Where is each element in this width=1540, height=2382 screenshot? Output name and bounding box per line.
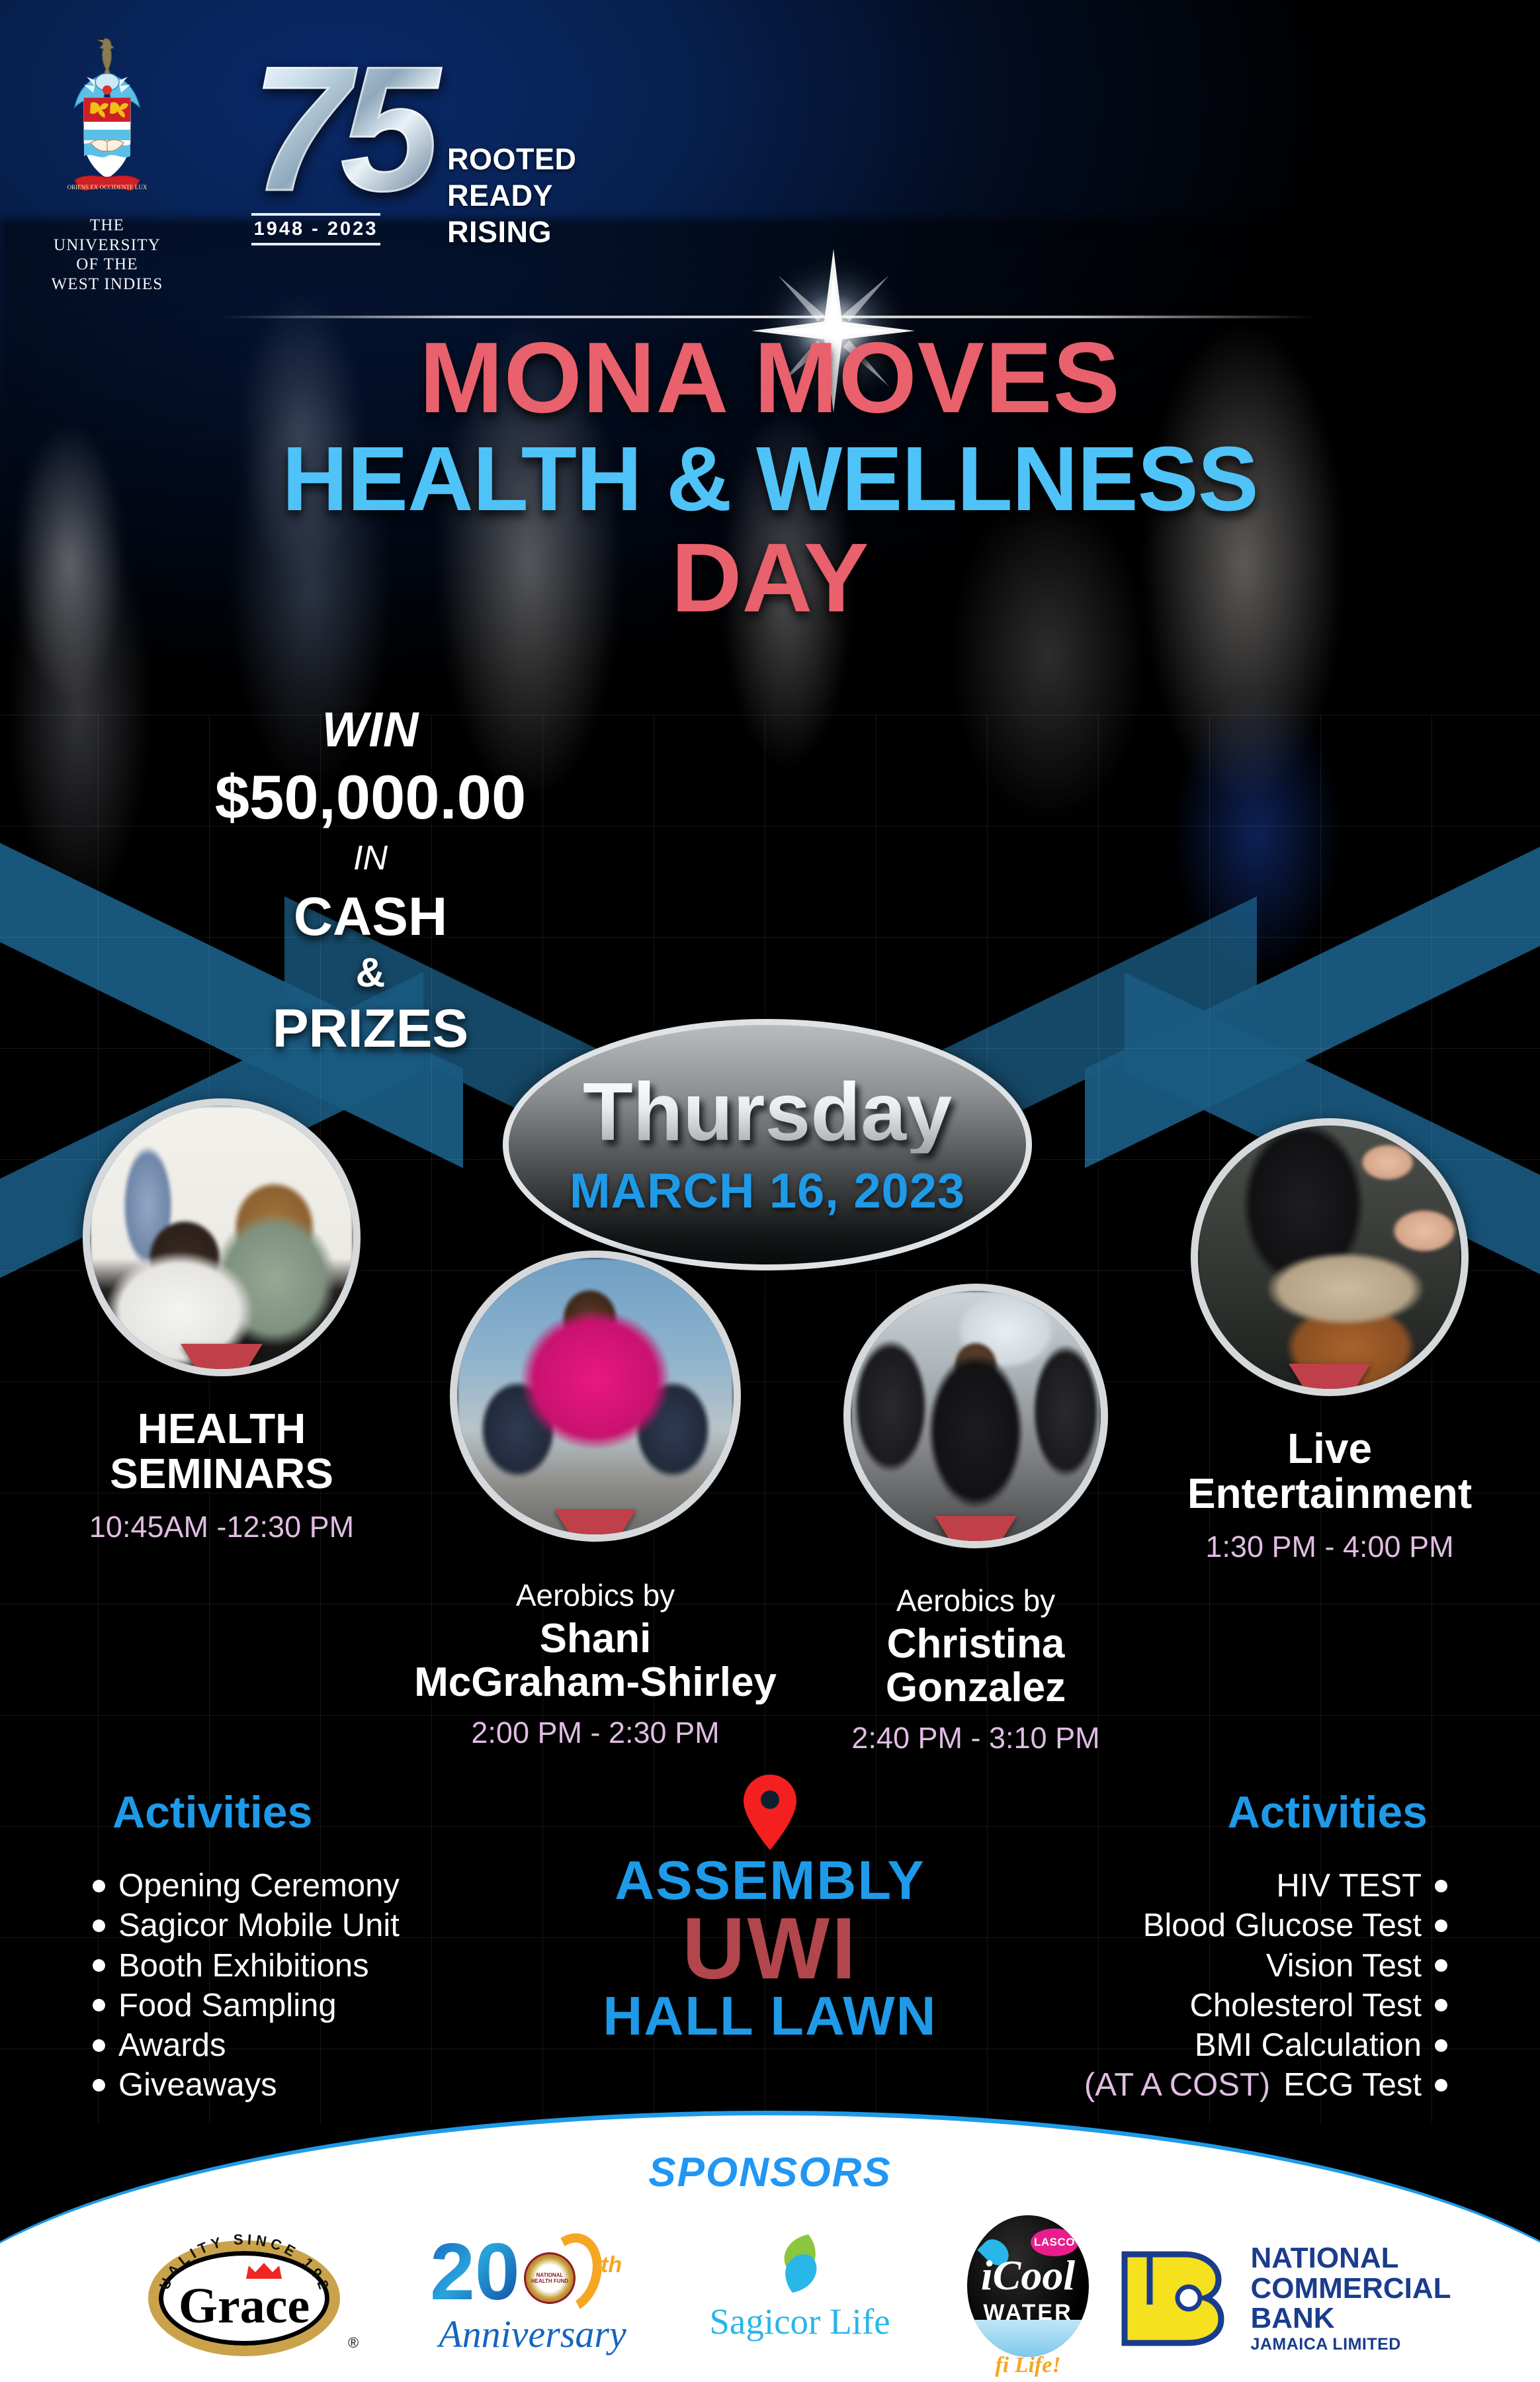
bullet-icon bbox=[93, 1959, 105, 1972]
aerobics-shani-name: Shani McGraham-Shirley bbox=[390, 1617, 800, 1704]
anniversary-wordmark: Anniversary bbox=[423, 2312, 642, 2356]
aerobics-shani-image bbox=[450, 1251, 741, 1542]
list-item: Vision Test bbox=[945, 1946, 1447, 1986]
bullet-icon bbox=[1435, 1880, 1447, 1892]
bullet-icon bbox=[1435, 1999, 1447, 2011]
list-item: (AT A COST) ECG Test bbox=[945, 2065, 1447, 2105]
sponsor-logo-grace: QUALITY SINCE 1922 Grace ® bbox=[115, 2228, 374, 2367]
activities-left-list: Opening Ceremony Sagicor Mobile Unit Boo… bbox=[93, 1866, 503, 2105]
bullet-icon bbox=[93, 2079, 105, 2092]
prize-block: WIN $50,000.00 IN CASH & PRIZES bbox=[185, 701, 556, 1060]
activities-right-list: HIV TEST Blood Glucose Test Vision Test … bbox=[945, 1866, 1447, 2105]
ncb-line4: JAMAICA LIMITED bbox=[1250, 2336, 1451, 2353]
ncb-line3: BANK bbox=[1250, 2303, 1451, 2334]
list-item: Booth Exhibitions bbox=[93, 1946, 503, 1986]
health-seminars-time: 10:45AM -12:30 PM bbox=[63, 1510, 380, 1544]
svg-text:ORIENS EX OCCIDENTE LUX: ORIENS EX OCCIDENTE LUX bbox=[67, 184, 148, 191]
ncb-mark-icon bbox=[1121, 2249, 1240, 2347]
health-seminars-title: HEALTH SEMINARS bbox=[63, 1407, 380, 1497]
sagicor-wordmark: Sagicor Life bbox=[691, 2301, 909, 2342]
venue-block: ASSEMBLY UWI HALL LAWN bbox=[572, 1773, 968, 2043]
prize-ampersand: & bbox=[185, 949, 556, 996]
event-day: Thursday bbox=[583, 1071, 952, 1153]
page-title-line1: MONA MOVES bbox=[0, 328, 1540, 428]
activity-label: Vision Test bbox=[1266, 1946, 1422, 1986]
bullet-icon bbox=[93, 1999, 105, 2011]
registered-mark: ® bbox=[348, 2334, 359, 2352]
activity-label: Opening Ceremony bbox=[118, 1866, 400, 1906]
activity-label: Blood Glucose Test bbox=[1143, 1906, 1422, 1945]
bullet-icon bbox=[1435, 2079, 1447, 2092]
sagicor-leaf-icon bbox=[769, 2232, 832, 2295]
list-item: Sagicor Mobile Unit bbox=[93, 1906, 503, 1945]
feature-aerobics-shani: Aerobics by Shani McGraham-Shirley 2:00 … bbox=[390, 1251, 800, 1750]
uwi-crest: ORIENS EX OCCIDENTE LUX THE UNIVERSITY O… bbox=[48, 33, 167, 294]
activity-cost-note: (AT A COST) bbox=[1084, 2065, 1270, 2105]
anniversary-75-logo: 75 1948 - 2023 bbox=[251, 40, 443, 251]
activity-label: BMI Calculation bbox=[1195, 2025, 1422, 2065]
nhf-seal-icon: NATIONAL HEALTH FUND bbox=[524, 2252, 576, 2304]
page-title-line3: DAY bbox=[0, 529, 1540, 627]
activity-label: Giveaways bbox=[118, 2065, 277, 2105]
event-date-badge: Thursday MARCH 16, 2023 bbox=[503, 1019, 1032, 1270]
live-entertainment-image bbox=[1191, 1118, 1469, 1396]
live-entertainment-title: Live Entertainment bbox=[1151, 1427, 1508, 1517]
aerobics-shani-time: 2:00 PM - 2:30 PM bbox=[390, 1716, 800, 1750]
prize-cash-label: CASH bbox=[185, 886, 556, 948]
prize-amount: $50,000.00 bbox=[185, 762, 556, 833]
prize-prizes-label: PRIZES bbox=[185, 998, 556, 1060]
activity-label: Sagicor Mobile Unit bbox=[118, 1906, 400, 1945]
grace-wordmark: Grace bbox=[148, 2277, 340, 2335]
bullet-icon bbox=[93, 1880, 105, 1892]
pointer-arrow-icon bbox=[935, 1516, 1017, 1548]
icool-oval: LASCO iCool WATER bbox=[967, 2215, 1089, 2357]
map-pin-icon bbox=[742, 1773, 798, 1851]
sponsor-logo-sagicor: Sagicor Life bbox=[691, 2232, 909, 2364]
prize-in-label: IN bbox=[185, 838, 556, 878]
aerobics-christina-image bbox=[843, 1284, 1108, 1548]
activity-label: HIV TEST bbox=[1276, 1866, 1422, 1906]
live-entertainment-time: 1:30 PM - 4:00 PM bbox=[1151, 1530, 1508, 1564]
anniversary-tagline: ROOTED READY RISING bbox=[447, 142, 577, 251]
list-item: Blood Glucose Test bbox=[945, 1906, 1447, 1945]
sponsors-heading: SPONSORS bbox=[0, 2149, 1540, 2196]
venue-line3: HALL LAWN bbox=[572, 1988, 968, 2043]
list-item: HIV TEST bbox=[945, 1866, 1447, 1906]
sponsor-logo-icool-water: LASCO iCool WATER fi Life! bbox=[958, 2215, 1098, 2381]
sponsor-logo-ncb: NATIONAL COMMERCIAL BANK JAMAICA LIMITED bbox=[1147, 2242, 1425, 2354]
aerobics-shani-subtitle: Aerobics by bbox=[390, 1577, 800, 1613]
feature-live-entertainment: Live Entertainment 1:30 PM - 4:00 PM bbox=[1151, 1118, 1508, 1564]
activity-label: Booth Exhibitions bbox=[118, 1946, 369, 1986]
bullet-icon bbox=[93, 2039, 105, 2052]
list-item: Awards bbox=[93, 2025, 503, 2065]
bullet-icon bbox=[1435, 2039, 1447, 2052]
crest-icon: ORIENS EX OCCIDENTE LUX bbox=[64, 33, 150, 212]
ncb-line2: COMMERCIAL bbox=[1250, 2273, 1451, 2304]
activity-label: Awards bbox=[118, 2025, 226, 2065]
feature-aerobics-christina: Aerobics by Christina Gonzalez 2:40 PM -… bbox=[804, 1284, 1148, 1755]
activity-label: Cholesterol Test bbox=[1190, 1986, 1422, 2025]
aerobics-christina-name: Christina Gonzalez bbox=[804, 1622, 1148, 1709]
bullet-icon bbox=[93, 1919, 105, 1932]
feature-health-seminars: HEALTH SEMINARS 10:45AM -12:30 PM bbox=[63, 1098, 380, 1544]
sponsors-row: QUALITY SINCE 1922 Grace ® 20 NATIONAL H… bbox=[0, 2222, 1540, 2374]
activities-left-heading: Activities bbox=[112, 1786, 312, 1838]
ncb-line1: NATIONAL bbox=[1250, 2243, 1451, 2273]
title-divider bbox=[218, 316, 1316, 318]
poster-root: ORIENS EX OCCIDENTE LUX THE UNIVERSITY O… bbox=[0, 0, 1540, 2382]
list-item: Food Sampling bbox=[93, 1986, 503, 2025]
aerobics-christina-time: 2:40 PM - 3:10 PM bbox=[804, 1721, 1148, 1755]
icool-slogan: fi Life! bbox=[958, 2353, 1098, 2378]
icool-wordmark: iCool bbox=[967, 2251, 1089, 2300]
sponsor-logo-nhf-anniversary: 20 NATIONAL HEALTH FUND th Anniversary bbox=[423, 2228, 642, 2367]
ordinal-suffix: th bbox=[601, 2252, 622, 2278]
bullet-icon bbox=[1435, 1919, 1447, 1932]
activity-label: ECG Test bbox=[1283, 2065, 1422, 2105]
activities-right-heading: Activities bbox=[1228, 1786, 1428, 1838]
activity-label: Food Sampling bbox=[118, 1986, 337, 2025]
list-item: Cholesterol Test bbox=[945, 1986, 1447, 2025]
list-item: Opening Ceremony bbox=[93, 1866, 503, 1906]
ncb-wordmark: NATIONAL COMMERCIAL BANK JAMAICA LIMITED bbox=[1250, 2243, 1451, 2353]
anniversary-number-20: 20 bbox=[430, 2231, 520, 2312]
health-seminars-image bbox=[83, 1098, 361, 1376]
bullet-icon bbox=[1435, 1959, 1447, 1972]
aerobics-christina-subtitle: Aerobics by bbox=[804, 1583, 1148, 1618]
university-name: THE UNIVERSITY OF THE WEST INDIES bbox=[48, 216, 167, 294]
header: ORIENS EX OCCIDENTE LUX THE UNIVERSITY O… bbox=[0, 0, 1540, 278]
list-item: Giveaways bbox=[93, 2065, 503, 2105]
icool-water-label: WATER bbox=[967, 2300, 1089, 2326]
venue-line2: UWI bbox=[572, 1905, 968, 1992]
event-date: MARCH 16, 2023 bbox=[570, 1163, 965, 1219]
page-title-line2: HEALTH & WELLNESS bbox=[0, 433, 1540, 525]
pointer-arrow-icon bbox=[554, 1509, 636, 1542]
pointer-arrow-icon bbox=[181, 1344, 263, 1376]
list-item: BMI Calculation bbox=[945, 2025, 1447, 2065]
prize-win-label: WIN bbox=[185, 701, 556, 758]
anniversary-number: 75 bbox=[251, 40, 443, 217]
pointer-arrow-icon bbox=[1289, 1364, 1371, 1396]
